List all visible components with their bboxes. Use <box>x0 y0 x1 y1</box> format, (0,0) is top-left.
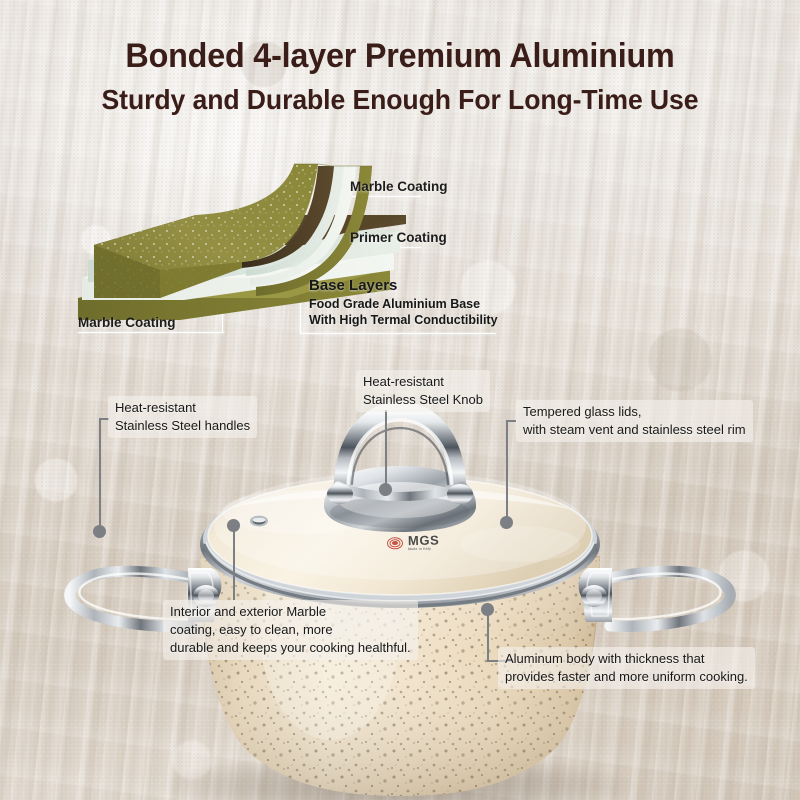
infographic-canvas: Bonded 4-layer Premium Aluminium Sturdy … <box>0 0 800 800</box>
callout-knob-line-1: Heat-resistant <box>363 373 483 391</box>
callout-aluminum-line-1: Aluminum body with thickness that <box>505 650 748 668</box>
steam-vent <box>250 516 268 527</box>
leader-handles-vertical <box>99 418 101 530</box>
callout-knob: Heat-resistant Stainless Steel Knob <box>356 370 490 412</box>
callout-marble-line-1: Interior and exterior Marble <box>170 603 411 621</box>
callout-knob-line-2: Stainless Steel Knob <box>363 391 483 409</box>
label-primer-coating: Primer Coating <box>350 229 447 246</box>
leader-marble-dot <box>227 519 240 532</box>
leader-knob-dot <box>379 483 392 496</box>
knob-group <box>324 410 476 532</box>
callout-marble-coating: Interior and exterior Marble coating, ea… <box>163 600 418 660</box>
label-marble-coating-top: Marble Coating <box>350 178 448 195</box>
leader-lid-dot <box>500 516 513 529</box>
right-handle-group <box>579 568 731 626</box>
callout-lid-line-2: with steam vent and stainless steel rim <box>523 421 746 439</box>
leader-marble-vertical <box>233 524 235 600</box>
callout-lid: Tempered glass lids, with steam vent and… <box>516 400 753 442</box>
brand-name: MGS <box>408 534 440 548</box>
label-base-layers: Base Layers Food Grade Aluminium Base Wi… <box>309 277 498 328</box>
page-title: Bonded 4-layer Premium Aluminium <box>20 36 780 76</box>
headline-block: Bonded 4-layer Premium Aluminium Sturdy … <box>0 36 800 117</box>
callout-aluminum-body: Aluminum body with thickness that provid… <box>498 647 755 689</box>
page-subtitle: Sturdy and Durable Enough For Long-Time … <box>20 83 780 117</box>
brand-swirl-icon <box>386 536 403 549</box>
leader-aluminum-vertical <box>487 610 489 662</box>
base-layers-line-2: With High Termal Conductibility <box>309 312 498 328</box>
base-layers-line-1: Food Grade Aluminium Base <box>309 296 498 312</box>
base-layers-title: Base Layers <box>309 277 498 296</box>
brand-logo: MGS Made in Italy <box>386 534 440 552</box>
leader-knob-vertical <box>385 410 387 488</box>
callout-aluminum-line-2: provides faster and more uniform cooking… <box>505 668 748 686</box>
callout-marble-line-3: durable and keeps your cooking healthful… <box>170 639 411 657</box>
brand-tagline: Made in Italy <box>408 548 439 552</box>
callout-handles: Heat-resistant Stainless Steel handles <box>108 396 257 438</box>
leader-lid-vertical <box>506 420 508 521</box>
callout-marble-line-2: coating, easy to clean, more <box>170 621 411 639</box>
leader-handles-dot <box>93 525 106 538</box>
callout-handles-line-2: Stainless Steel handles <box>115 417 250 435</box>
callout-lid-line-1: Tempered glass lids, <box>523 403 746 421</box>
label-marble-coating-bottom: Marble Coating <box>78 314 176 331</box>
leader-aluminum-dot <box>481 603 494 616</box>
callout-handles-line-1: Heat-resistant <box>115 399 250 417</box>
